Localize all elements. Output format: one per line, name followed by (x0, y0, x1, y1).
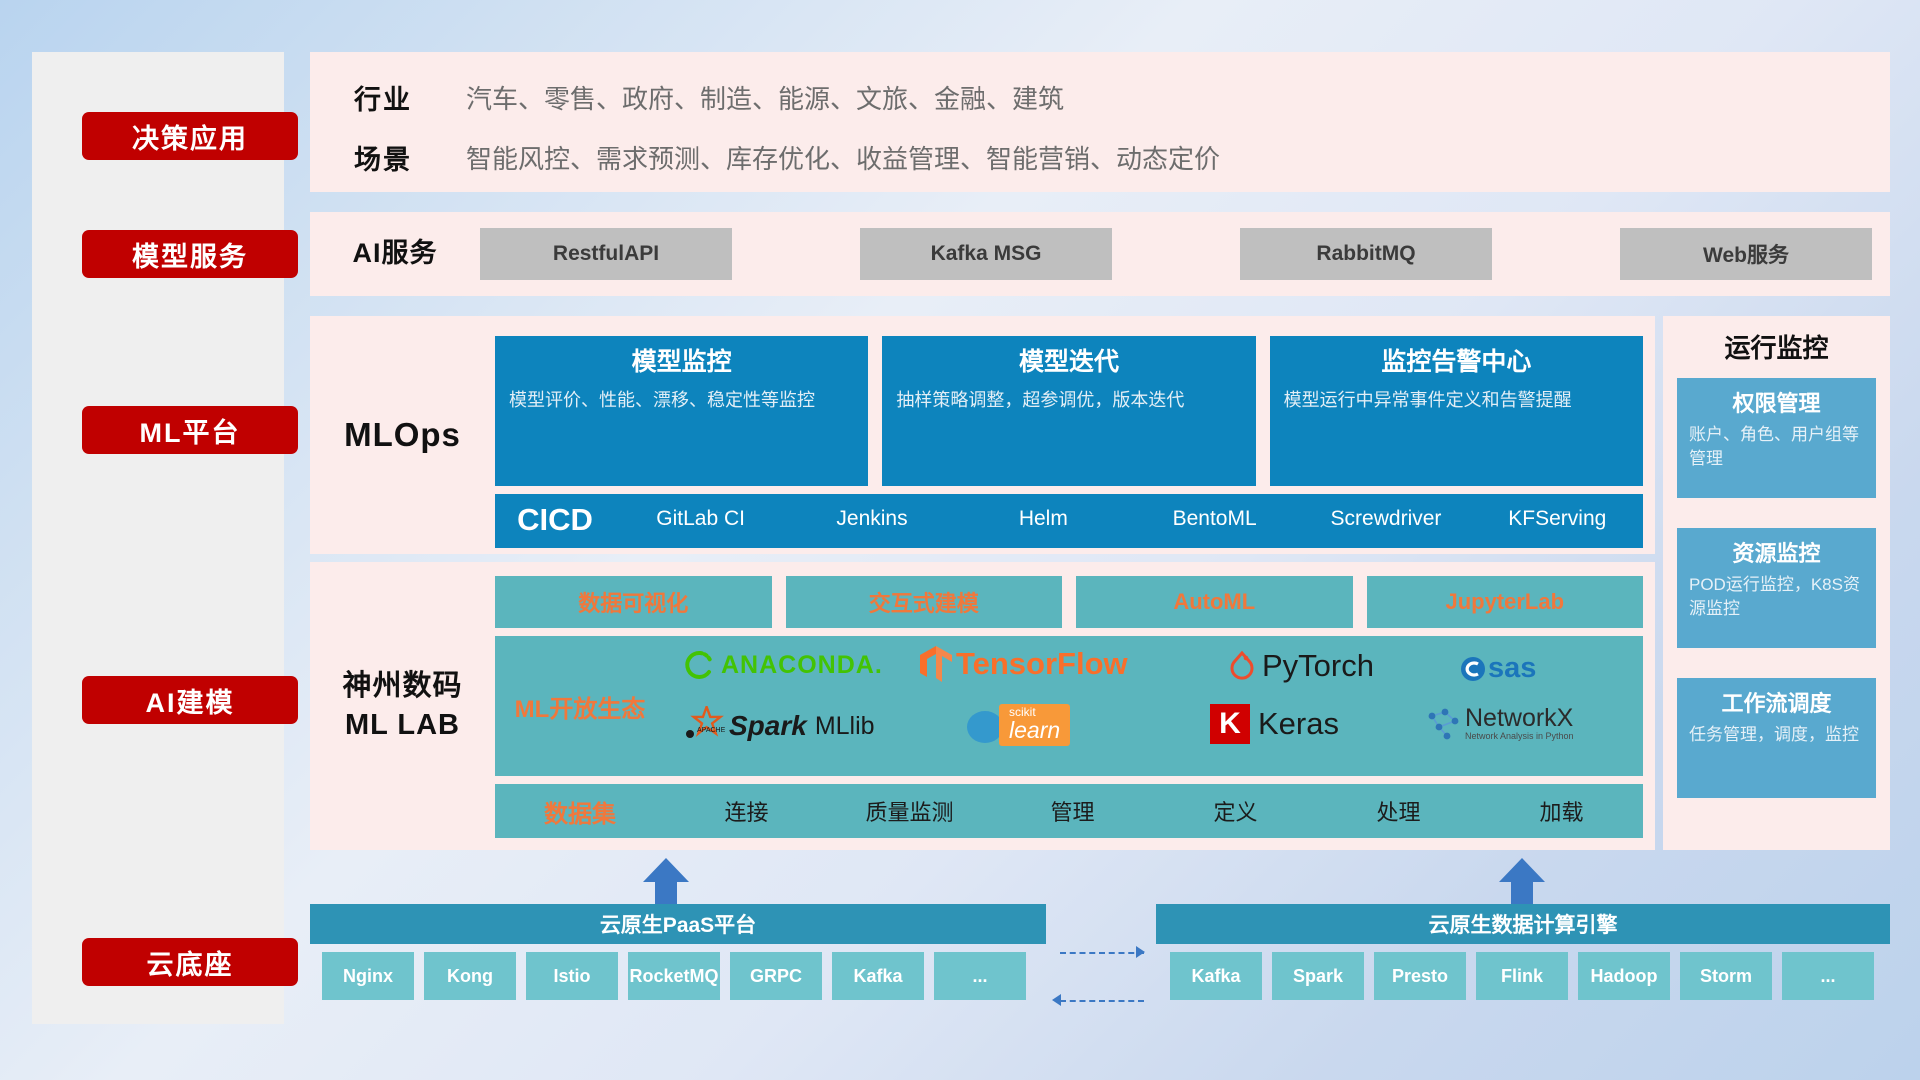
scene-value: 智能风控、需求预测、库存优化、收益管理、智能营销、动态定价 (466, 139, 1220, 176)
spark-mllib-logo: APACHE Spark MLlib (685, 706, 875, 746)
cloud-chip-kong[interactable]: Kong (424, 952, 516, 1000)
card-desc: 账户、角色、用户组等管理 (1689, 423, 1864, 471)
runtime-monitor-title: 运行监控 (1663, 328, 1890, 365)
left-arrow-head-icon (643, 858, 689, 882)
sas-wordmark: sas (1488, 652, 1536, 685)
keras-mark-letter: K (1219, 707, 1241, 741)
ml-lab-label-line1: 神州数码 (342, 667, 462, 706)
scikit-learn-text: learn (1009, 718, 1060, 742)
ai-service-label: AI服务 (310, 212, 480, 296)
scene-row: 场景 智能风控、需求预测、库存优化、收益管理、智能营销、动态定价 (328, 138, 1220, 177)
tensorflow-mark-icon (920, 646, 952, 682)
card-desc: 模型运行中异常事件定义和告警提醒 (1284, 387, 1629, 413)
ml-lab-band: 神州数码 ML LAB 数据可视化 交互式建模 AutoML JupyterLa… (310, 562, 1655, 850)
rail-chip-model-service[interactable]: 模型服务 (82, 230, 298, 278)
engine-chip-more[interactable]: ... (1782, 952, 1874, 1000)
networkx-wordmark: NetworkX (1465, 706, 1574, 731)
left-arrow-shaft (655, 880, 677, 904)
right-arrow-shaft (1511, 880, 1533, 904)
link-arrowhead-left-icon (1052, 994, 1061, 1006)
cloud-chip-grpc[interactable]: GRPC (730, 952, 822, 1000)
cicd-item-helm[interactable]: Helm (958, 494, 1129, 533)
spark-wordmark: Spark (729, 710, 807, 742)
pytorch-logo: PyTorch (1227, 648, 1374, 684)
dataset-item-load[interactable]: 加载 (1480, 795, 1643, 827)
networkx-logo: NetworkX Network Analysis in Python (1425, 706, 1574, 742)
industry-key: 行业 (328, 78, 438, 117)
ml-ecosystem-label: ML开放生态 (495, 689, 665, 724)
card-title: 监控告警中心 (1284, 346, 1629, 379)
networkx-graph-icon (1425, 707, 1461, 741)
mlops-card-list: 模型监控 模型评价、性能、漂移、稳定性等监控 模型迭代 抽样策略调整，超参调优，… (495, 336, 1643, 486)
cloud-chip-nginx[interactable]: Nginx (322, 952, 414, 1000)
mllib-wordmark: MLlib (815, 712, 875, 741)
rail-chip-cloud-base[interactable]: 云底座 (82, 938, 298, 986)
pytorch-wordmark: PyTorch (1262, 648, 1374, 684)
ml-lab-tab-list: 数据可视化 交互式建模 AutoML JupyterLab (495, 576, 1643, 628)
keras-wordmark: Keras (1258, 706, 1339, 742)
mlops-band: MLOps 模型监控 模型评价、性能、漂移、稳定性等监控 模型迭代 抽样策略调整… (310, 316, 1655, 554)
industry-value: 汽车、零售、政府、制造、能源、文旅、金融、建筑 (466, 79, 1064, 116)
ai-service-chip-kafka-msg[interactable]: Kafka MSG (860, 228, 1112, 280)
spark-apache-text: APACHE (697, 727, 726, 734)
rail-chip-ml-platform[interactable]: ML平台 (82, 406, 298, 454)
networkx-wordmark-group: NetworkX Network Analysis in Python (1465, 706, 1574, 742)
tab-data-visualization[interactable]: 数据可视化 (495, 576, 772, 628)
pytorch-flame-icon (1227, 650, 1257, 682)
sas-mark-icon (1460, 656, 1486, 682)
ai-service-chip-web[interactable]: Web服务 (1620, 228, 1872, 280)
dataset-row: 数据集 连接 质量监测 管理 定义 处理 加载 (495, 784, 1643, 838)
card-title: 模型监控 (509, 346, 854, 379)
scene-key: 场景 (328, 138, 438, 177)
dataset-item-process[interactable]: 处理 (1317, 795, 1480, 827)
link-dashed-bottom (1060, 1000, 1144, 1002)
mlops-card-model-iteration[interactable]: 模型迭代 抽样策略调整，超参调优，版本迭代 (882, 336, 1255, 486)
cloud-chip-more[interactable]: ... (934, 952, 1026, 1000)
tensorflow-logo: TensorFlow (920, 646, 1128, 682)
left-rail: 决策应用 模型服务 ML平台 AI建模 云底座 (32, 52, 284, 1024)
ml-lab-label-line2: ML LAB (342, 706, 462, 745)
rail-chip-decision[interactable]: 决策应用 (82, 112, 298, 160)
tab-interactive-modeling[interactable]: 交互式建模 (786, 576, 1063, 628)
architecture-diagram: 决策应用 模型服务 ML平台 AI建模 云底座 行业 汽车、零售、政府、制造、能… (0, 0, 1920, 1080)
cicd-item-jenkins[interactable]: Jenkins (786, 494, 957, 533)
keras-logo: K Keras (1210, 704, 1339, 744)
keras-mark-icon: K (1210, 704, 1250, 744)
ml-ecosystem-logo-area: ANACONDA. TensorFlow (665, 636, 1643, 776)
tensorflow-wordmark: TensorFlow (956, 646, 1128, 682)
card-title: 资源监控 (1689, 536, 1864, 568)
rail-chip-label: 云底座 (147, 943, 234, 982)
engine-chip-presto[interactable]: Presto (1374, 952, 1466, 1000)
anaconda-wordmark: ANACONDA. (721, 651, 883, 680)
right-arrow-head-icon (1499, 858, 1545, 882)
engine-chip-kafka[interactable]: Kafka (1170, 952, 1262, 1000)
ai-service-chip-rabbitmq[interactable]: RabbitMQ (1240, 228, 1492, 280)
cicd-title: CICD (495, 494, 615, 538)
cicd-item-kfserving[interactable]: KFServing (1472, 494, 1643, 533)
rail-chip-label: ML平台 (140, 411, 241, 450)
cloud-chip-istio[interactable]: Istio (526, 952, 618, 1000)
rail-chip-label: AI建模 (146, 681, 235, 720)
card-desc: 抽样策略调整，超参调优，版本迭代 (896, 387, 1241, 413)
cloud-paas-bar[interactable]: 云原生PaaS平台 (310, 904, 1046, 944)
networkx-tagline: Network Analysis in Python (1465, 731, 1574, 742)
cicd-item-screwdriver[interactable]: Screwdriver (1300, 494, 1471, 533)
dataset-label: 数据集 (495, 794, 665, 829)
cloud-data-engine-bar[interactable]: 云原生数据计算引擎 (1156, 904, 1890, 944)
rail-chip-ai-modeling[interactable]: AI建模 (82, 676, 298, 724)
cicd-item-list: GitLab CI Jenkins Helm BentoML Screwdriv… (615, 494, 1643, 533)
cloud-paas-bar-label: 云原生PaaS平台 (600, 909, 756, 939)
card-title: 模型迭代 (896, 346, 1241, 379)
dataset-item-define[interactable]: 定义 (1154, 795, 1317, 827)
monitor-card-permission[interactable]: 权限管理 账户、角色、用户组等管理 (1677, 378, 1876, 498)
anaconda-mark-icon (685, 650, 715, 680)
cloud-paas-chip-row: Nginx Kong Istio RocketMQ GRPC Kafka ... (322, 952, 1026, 1000)
card-title: 工作流调度 (1689, 686, 1864, 718)
link-dashed-top (1060, 952, 1144, 954)
engine-chip-spark[interactable]: Spark (1272, 952, 1364, 1000)
industry-row: 行业 汽车、零售、政府、制造、能源、文旅、金融、建筑 (328, 78, 1064, 117)
card-desc: 模型评价、性能、漂移、稳定性等监控 (509, 387, 854, 413)
mlops-card-alert-center[interactable]: 监控告警中心 模型运行中异常事件定义和告警提醒 (1270, 336, 1643, 486)
link-arrowhead-right-icon (1136, 946, 1145, 958)
monitor-card-resource[interactable]: 资源监控 POD运行监控，K8S资源监控 (1677, 528, 1876, 648)
dataset-item-list: 连接 质量监测 管理 定义 处理 加载 (665, 795, 1643, 827)
cloud-data-engine-bar-label: 云原生数据计算引擎 (1429, 909, 1618, 939)
dataset-item-manage[interactable]: 管理 (991, 795, 1154, 827)
scikit-learn-badge: scikit learn (999, 704, 1070, 746)
cicd-item-gitlab-ci[interactable]: GitLab CI (615, 494, 786, 533)
scikit-learn-logo: scikit learn (965, 704, 1070, 746)
card-title: 权限管理 (1689, 386, 1864, 418)
rail-chip-label: 模型服务 (132, 235, 248, 274)
industry-scene-band: 行业 汽车、零售、政府、制造、能源、文旅、金融、建筑 场景 智能风控、需求预测、… (310, 52, 1890, 192)
runtime-monitor-panel: 运行监控 权限管理 账户、角色、用户组等管理 资源监控 POD运行监控，K8S资… (1663, 316, 1890, 850)
card-desc: POD运行监控，K8S资源监控 (1689, 573, 1864, 621)
ai-service-chip-restfulapi[interactable]: RestfulAPI (480, 228, 732, 280)
ai-service-band: AI服务 RestfulAPI Kafka MSG RabbitMQ Web服务 (310, 212, 1890, 296)
cloud-chip-kafka[interactable]: Kafka (832, 952, 924, 1000)
dataset-item-connect[interactable]: 连接 (665, 795, 828, 827)
mlops-label: MLOps (310, 316, 495, 554)
engine-chip-flink[interactable]: Flink (1476, 952, 1568, 1000)
monitor-card-workflow[interactable]: 工作流调度 任务管理，调度，监控 (1677, 678, 1876, 798)
engine-chip-hadoop[interactable]: Hadoop (1578, 952, 1670, 1000)
cicd-item-bentoml[interactable]: BentoML (1129, 494, 1300, 533)
ml-ecosystem-row: ML开放生态 ANACONDA. (495, 636, 1643, 776)
ml-lab-label: 神州数码 ML LAB (310, 562, 495, 850)
anaconda-logo: ANACONDA. (685, 650, 883, 680)
cloud-chip-rocketmq[interactable]: RocketMQ (628, 952, 720, 1000)
ai-service-chip-list: RestfulAPI Kafka MSG RabbitMQ Web服务 (480, 228, 1872, 280)
engine-chip-storm[interactable]: Storm (1680, 952, 1772, 1000)
sas-logo: sas (1460, 652, 1536, 685)
dataset-item-quality[interactable]: 质量监测 (828, 795, 991, 827)
cicd-bar: CICD GitLab CI Jenkins Helm BentoML Scre… (495, 494, 1643, 548)
card-desc: 任务管理，调度，监控 (1689, 723, 1864, 747)
spark-star-icon: APACHE (685, 706, 727, 746)
cloud-data-engine-chip-row: Kafka Spark Presto Flink Hadoop Storm ..… (1170, 952, 1874, 1000)
tab-automl[interactable]: AutoML (1076, 576, 1353, 628)
mlops-card-model-monitoring[interactable]: 模型监控 模型评价、性能、漂移、稳定性等监控 (495, 336, 868, 486)
rail-chip-label: 决策应用 (132, 117, 248, 156)
tab-jupyterlab[interactable]: JupyterLab (1367, 576, 1644, 628)
